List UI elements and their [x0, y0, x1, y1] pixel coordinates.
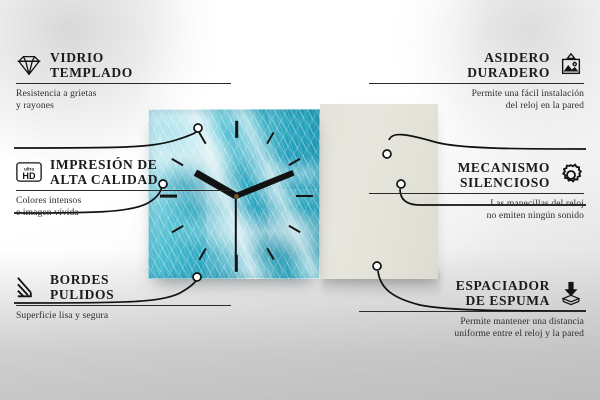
subtitle-line-1: Colores intensos	[16, 195, 81, 206]
callout-asidero-duradero: ASIDERO DURADERO Permite una fácil insta…	[369, 50, 584, 111]
icon-label-main: HD	[22, 171, 36, 181]
subtitle-line-2: uniforme entre el reloj y la pared	[454, 328, 584, 339]
subtitle-line-2: e imagen vívida	[16, 207, 79, 218]
callout-subtitle: Permite mantener una distancia uniforme …	[359, 316, 584, 339]
diamond-icon	[16, 52, 42, 78]
subtitle-line-1: Permite mantener una distancia	[460, 316, 584, 327]
subtitle-line-1: Resistencia a grietas	[16, 88, 96, 99]
title-line-1: ASIDERO	[484, 50, 550, 65]
callout-title: ASIDERO DURADERO	[467, 50, 550, 80]
callout-rule	[16, 83, 231, 84]
callout-rule	[16, 190, 231, 191]
title-line-2: DE ESPUMA	[465, 293, 550, 308]
title-line-1: ESPACIADOR	[456, 278, 550, 293]
callout-rule	[359, 311, 584, 312]
callout-subtitle: Resistencia a grietas y rayones	[16, 88, 231, 111]
title-line-2: SILENCIOSO	[460, 175, 550, 190]
callout-rule	[369, 83, 584, 84]
subtitle-line-1: Las manecillas del reloj	[490, 198, 584, 209]
callout-title: BORDES PULIDOS	[50, 272, 114, 302]
callout-title: IMPRESIÓN DE ALTA CALIDAD	[50, 157, 158, 187]
callout-subtitle: Las manecillas del reloj no emiten ningú…	[369, 198, 584, 221]
callout-header: BORDES PULIDOS	[16, 272, 231, 302]
callout-header: ultra HD IMPRESIÓN DE ALTA CALIDAD	[16, 157, 231, 187]
infographic-canvas: VIDRIO TEMPLADO Resistencia a grietas y …	[0, 0, 600, 400]
ultra-hd-icon: ultra HD	[16, 159, 42, 185]
callout-rule	[369, 193, 584, 194]
subtitle-line-2: del reloj en la pared	[506, 100, 584, 111]
callout-title: ESPACIADOR DE ESPUMA	[456, 278, 550, 308]
subtitle-line-2: no emiten ningún sonido	[487, 210, 584, 221]
title-line-2: DURADERO	[467, 65, 550, 80]
subtitle-line-1: Permite una fácil instalación	[472, 88, 584, 99]
title-line-2: PULIDOS	[50, 287, 114, 302]
title-line-1: IMPRESIÓN DE	[50, 157, 157, 172]
picture-frame-hanger-icon	[558, 52, 584, 78]
subtitle-line-2: y rayones	[16, 100, 54, 111]
gear-icon	[558, 162, 584, 188]
title-line-1: VIDRIO	[50, 50, 104, 65]
callout-header: VIDRIO TEMPLADO	[16, 50, 231, 80]
callout-title: VIDRIO TEMPLADO	[50, 50, 133, 80]
title-line-2: TEMPLADO	[50, 65, 133, 80]
callout-header: ESPACIADOR DE ESPUMA	[359, 278, 584, 308]
callout-header: ASIDERO DURADERO	[369, 50, 584, 80]
callout-subtitle: Superficie lisa y segura	[16, 310, 231, 322]
subtitle-line-1: Superficie lisa y segura	[16, 310, 108, 321]
press-down-pad-icon	[558, 280, 584, 306]
callout-mecanismo-silencioso: MECANISMO SILENCIOSO Las manecillas del …	[369, 160, 584, 221]
title-line-1: BORDES	[50, 272, 109, 287]
title-line-2: ALTA CALIDAD	[50, 172, 158, 187]
callout-impresion-alta-calidad: ultra HD IMPRESIÓN DE ALTA CALIDAD Color…	[16, 157, 231, 218]
callout-header: MECANISMO SILENCIOSO	[369, 160, 584, 190]
callout-bordes-pulidos: BORDES PULIDOS Superficie lisa y segura	[16, 272, 231, 322]
callout-espaciador-de-espuma: ESPACIADOR DE ESPUMA Permite mantener un…	[359, 278, 584, 339]
callout-subtitle: Permite una fácil instalación del reloj …	[369, 88, 584, 111]
callout-title: MECANISMO SILENCIOSO	[458, 160, 550, 190]
title-line-1: MECANISMO	[458, 160, 550, 175]
beveled-edge-icon	[16, 274, 42, 300]
callout-subtitle: Colores intensos e imagen vívida	[16, 195, 231, 218]
callout-vidrio-templado: VIDRIO TEMPLADO Resistencia a grietas y …	[16, 50, 231, 111]
callout-rule	[16, 305, 231, 306]
